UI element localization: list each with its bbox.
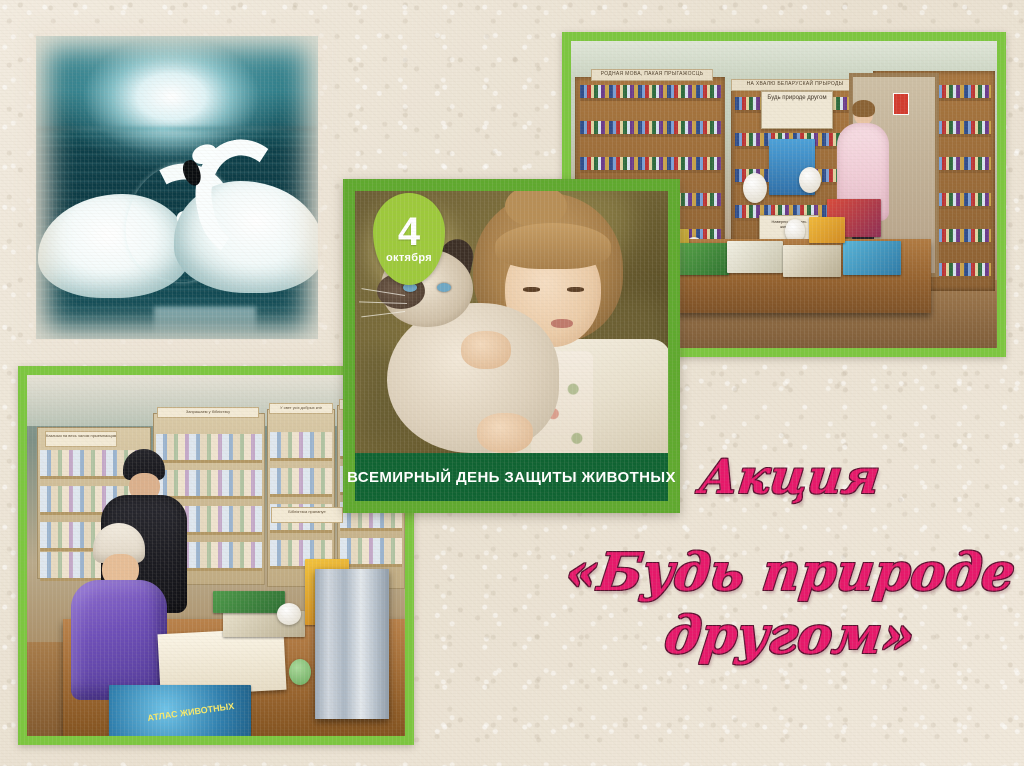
rack-shelf (340, 538, 402, 567)
action-title: Акция «Будь природе другом» (565, 440, 1015, 730)
slide-canvas: РОДНАЯ МОВА, ПАКАЯ ПРЫГАЖОСЦЬ НА ХВАЛЮ Б… (0, 0, 1024, 766)
bangs (852, 100, 875, 117)
shelf-row (580, 85, 721, 101)
girl-hand-lower (477, 413, 533, 453)
exit-sign-icon (893, 93, 909, 115)
girl-eye-left (523, 287, 540, 292)
water-reflection (154, 307, 256, 337)
plush-toy (277, 603, 301, 625)
poster-photo: 4 октября (355, 191, 668, 453)
plush-toy (743, 173, 767, 203)
toy-elephant (809, 217, 845, 243)
shelf-header-center: НА ХВАЛЮ БЕЛАРУСКАЙ ПРЫРОДЫ (731, 79, 859, 91)
shelf-header-left: РОДНАЯ МОВА, ПАКАЯ ПРЫГАЖОСЦЬ (591, 69, 713, 81)
title-line-akciya: Акция (697, 454, 882, 502)
plush-toy (289, 659, 311, 685)
display-book (783, 245, 841, 277)
cat-eye-right (437, 283, 451, 292)
rack-label: У свет усіх добрых кніг (269, 403, 333, 414)
purple-coat (71, 580, 167, 700)
swan-scene (36, 36, 318, 339)
shelf-row (580, 121, 721, 137)
date-month: октября (386, 252, 432, 264)
shelf-row (580, 157, 721, 173)
plush-toy (799, 167, 821, 193)
girl-eye-right (567, 287, 584, 292)
rack-shelf (270, 432, 332, 461)
standing-open-book (315, 569, 389, 719)
date-number: 4 (398, 214, 420, 251)
title-line-drugom: другом» (662, 609, 918, 662)
display-book (727, 241, 783, 273)
rack-label: Казачыя на весь чалом прыемнасцямі (45, 431, 117, 447)
photo-swans (36, 36, 318, 339)
title-line-bud-prirode: «Будь природе (562, 546, 1017, 599)
girl-bangs (495, 223, 611, 269)
rack-shelf (270, 468, 332, 497)
rack-label: Бібліятэка прапануе (271, 507, 343, 523)
girl-mouth (551, 319, 573, 328)
horizon-line (36, 127, 318, 131)
display-book (843, 241, 901, 275)
display-sign: Будь природе другом (761, 91, 833, 129)
table-book (213, 591, 285, 613)
rack-label: Запрашаем у бібліятэку (157, 407, 259, 418)
girl-hand-upper (461, 331, 511, 369)
